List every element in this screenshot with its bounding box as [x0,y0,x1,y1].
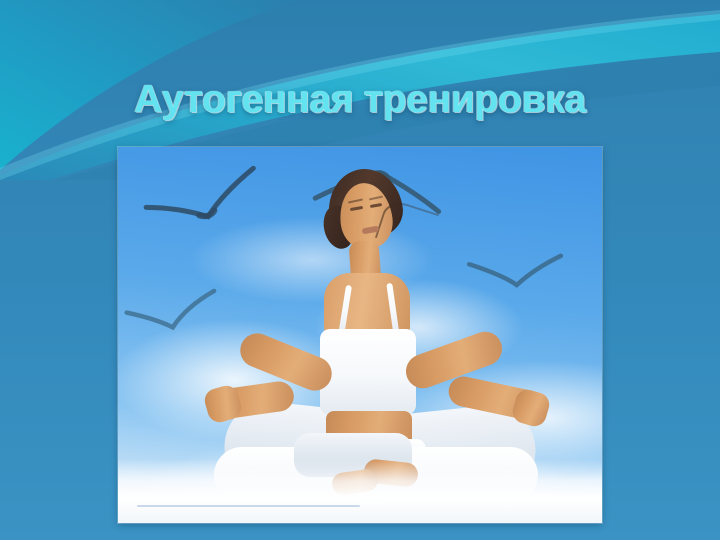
tank-top [320,329,416,415]
presentation-slide: Аутогенная тренировка [0,0,720,540]
white-sheet [118,459,602,523]
slide-title: Аутогенная тренировка [0,78,720,122]
sheet-fold [137,505,360,507]
slide-image [118,147,602,523]
